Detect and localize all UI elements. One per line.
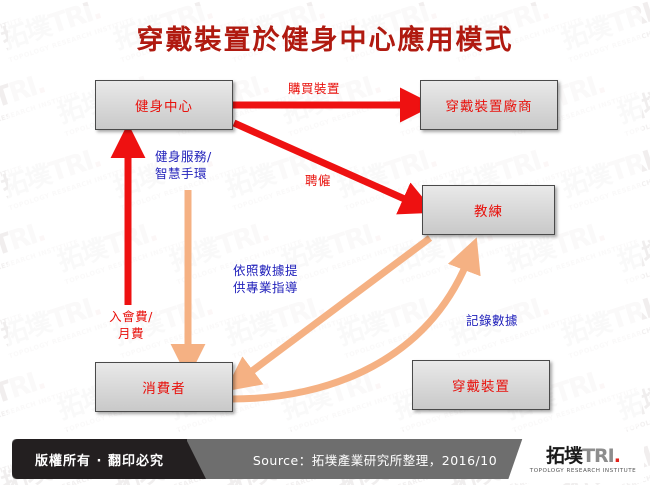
tri-logo-cjk: 拓墣 xyxy=(546,445,582,467)
edge-label-service: 健身服務/ 智慧手環 xyxy=(155,148,212,182)
edge-label-fee-line2: 月費 xyxy=(96,325,166,342)
edge-label-guidance-line2: 供專業指導 xyxy=(233,279,298,296)
edge-label-guidance: 依照數據提 供專業指導 xyxy=(233,262,298,296)
edge-label-fee-line1: 入會費/ xyxy=(96,308,166,325)
tri-logo: 拓墣TRI. TOPOLOGY RESEARCH INSTITUTE xyxy=(522,437,644,483)
edge-label-hire: 聘僱 xyxy=(305,172,331,189)
node-consumer[interactable]: 消費者 xyxy=(95,362,233,412)
node-vendor[interactable]: 穿戴裝置廠商 xyxy=(420,80,558,130)
node-coach[interactable]: 教練 xyxy=(422,185,555,235)
arrow-hire xyxy=(234,123,418,205)
diagram-arrows xyxy=(0,0,650,485)
tri-logo-dot-icon: . xyxy=(614,445,620,467)
node-device[interactable]: 穿戴裝置 xyxy=(412,360,550,410)
edge-label-service-line1: 健身服務/ xyxy=(155,148,212,165)
footer: 版權所有 · 翻印必究 Source：拓墣產業研究所整理，2016/10 拓墣T… xyxy=(0,437,650,485)
slide-canvas: 拓墣TRI.TOPOLOGY RESEARCH INSTITUTE拓墣TRI.T… xyxy=(0,0,650,485)
edge-label-purchase: 購買裝置 xyxy=(288,80,340,97)
copyright-notice: 版權所有 · 翻印必究 xyxy=(12,439,187,479)
node-gym[interactable]: 健身中心 xyxy=(95,80,233,130)
page-title: 穿戴裝置於健身中心應用模式 xyxy=(0,18,650,57)
source-note: Source：拓墣產業研究所整理，2016/10 xyxy=(205,439,545,479)
arrow-guidance xyxy=(240,238,430,380)
tri-logo-subtitle: TOPOLOGY RESEARCH INSTITUTE xyxy=(530,468,636,474)
edge-label-record: 記錄數據 xyxy=(466,312,518,329)
edge-label-guidance-line1: 依照數據提 xyxy=(233,262,298,279)
tri-logo-latin: TRI xyxy=(582,445,614,467)
tri-logo-wordmark: 拓墣TRI. xyxy=(546,446,620,466)
edge-label-service-line2: 智慧手環 xyxy=(155,165,212,182)
edge-label-fee: 入會費/ 月費 xyxy=(96,308,166,342)
